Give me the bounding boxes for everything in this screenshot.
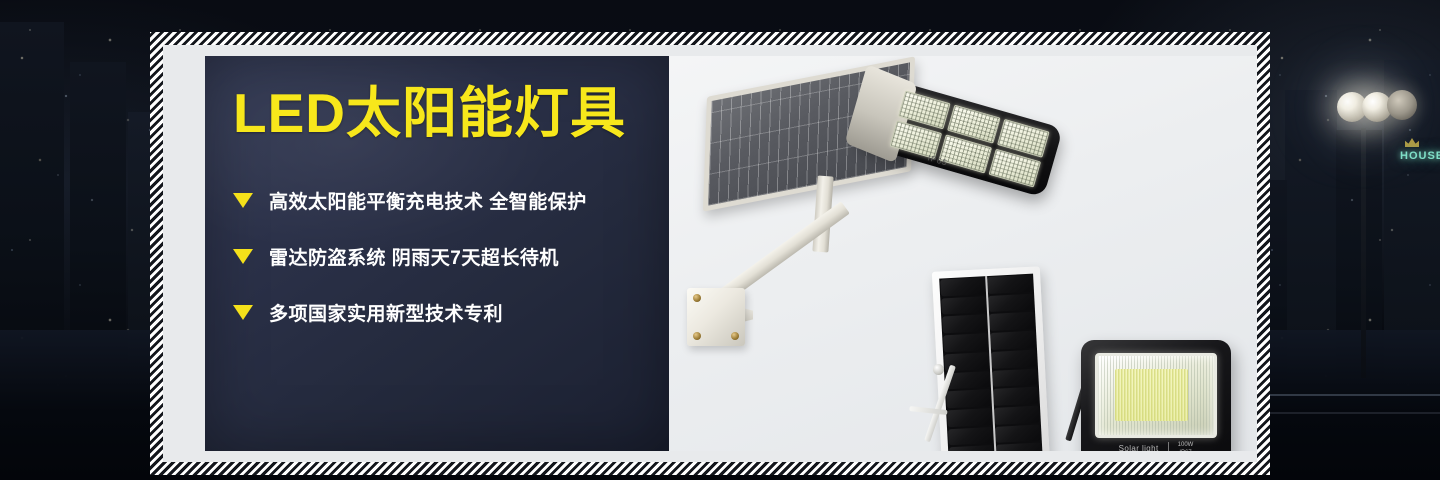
flood-light-label-row: Solar light 100W IP67 xyxy=(1081,441,1231,451)
triangle-down-icon xyxy=(233,193,253,208)
solar-cell xyxy=(949,445,995,451)
product-showcase-panel: IP65 xyxy=(669,56,1257,451)
solar-cell xyxy=(947,408,993,427)
bolt-icon xyxy=(693,332,701,340)
led-solar-lamp-banner: HOUSE LED太阳能灯具 高效太阳能平衡充电技术 全智能保护 雷达防盗系统 … xyxy=(0,0,1440,480)
label-divider xyxy=(1168,442,1169,451)
flood-light-brand-label: Solar light xyxy=(1119,444,1159,451)
text-panel: LED太阳能灯具 高效太阳能平衡充电技术 全智能保护 雷达防盗系统 阴雨天7天超… xyxy=(205,56,669,451)
solar-cell xyxy=(992,368,1038,387)
flood-light-lens xyxy=(1095,353,1217,438)
bolt-icon xyxy=(731,332,739,340)
solar-cell xyxy=(940,277,986,296)
solar-cell xyxy=(946,389,992,408)
solar-cell xyxy=(995,424,1041,443)
background-lamp-post xyxy=(1361,128,1366,378)
solar-cell xyxy=(991,349,1037,368)
waterfront-railing xyxy=(1240,412,1440,414)
solar-cell xyxy=(948,427,994,446)
solar-cell xyxy=(988,293,1034,312)
solar-cell xyxy=(993,387,1039,406)
solar-cell xyxy=(987,275,1033,294)
triangle-down-icon xyxy=(233,305,253,320)
solar-panel-hinge xyxy=(933,364,944,375)
flood-light-spec-label: 100W IP67 xyxy=(1178,441,1194,451)
feature-text: 雷达防盗系统 阴雨天7天超长待机 xyxy=(269,243,559,270)
solar-cell xyxy=(942,315,988,334)
solar-panel-stand xyxy=(905,363,953,443)
solar-cell xyxy=(941,296,987,315)
list-item: 雷达防盗系统 阴雨天7天超长待机 xyxy=(233,243,669,270)
waterfront-railing xyxy=(1240,394,1440,396)
flood-light-wattage: 100W xyxy=(1178,442,1194,448)
solar-cell xyxy=(994,405,1040,424)
frame-inner-white: LED太阳能灯具 高效太阳能平衡充电技术 全智能保护 雷达防盗系统 阴雨天7天超… xyxy=(163,45,1257,462)
feature-text: 多项国家实用新型技术专利 xyxy=(269,299,503,326)
list-item: 多项国家实用新型技术专利 xyxy=(233,299,669,326)
flood-light-ip-rating: IP67 xyxy=(1179,450,1191,451)
street-light-head: IP65 xyxy=(855,74,1063,197)
led-module-grid xyxy=(889,90,1049,187)
lamp-globe-icon xyxy=(1387,90,1417,120)
bolt-icon xyxy=(693,294,701,302)
solar-cell xyxy=(943,333,989,352)
solar-cell xyxy=(989,312,1035,331)
solar-cell xyxy=(996,443,1042,451)
triangle-down-icon xyxy=(233,249,253,264)
neon-sign-text: HOUSE xyxy=(1400,150,1440,162)
flood-light-product: Solar light 100W IP67 xyxy=(1081,340,1231,451)
street-light-arm xyxy=(720,201,850,301)
street-light-wall-bracket xyxy=(687,288,745,346)
feature-list: 高效太阳能平衡充电技术 全智能保护 雷达防盗系统 阴雨天7天超长待机 多项国家实… xyxy=(233,187,669,326)
page-title: LED太阳能灯具 xyxy=(233,86,669,141)
feature-text: 高效太阳能平衡充电技术 全智能保护 xyxy=(269,187,587,214)
solar-cell xyxy=(990,331,1036,350)
hatched-frame-border: LED太阳能灯具 高效太阳能平衡充电技术 全智能保护 雷达防盗系统 阴雨天7天超… xyxy=(150,32,1270,475)
list-item: 高效太阳能平衡充电技术 全智能保护 xyxy=(233,187,669,214)
